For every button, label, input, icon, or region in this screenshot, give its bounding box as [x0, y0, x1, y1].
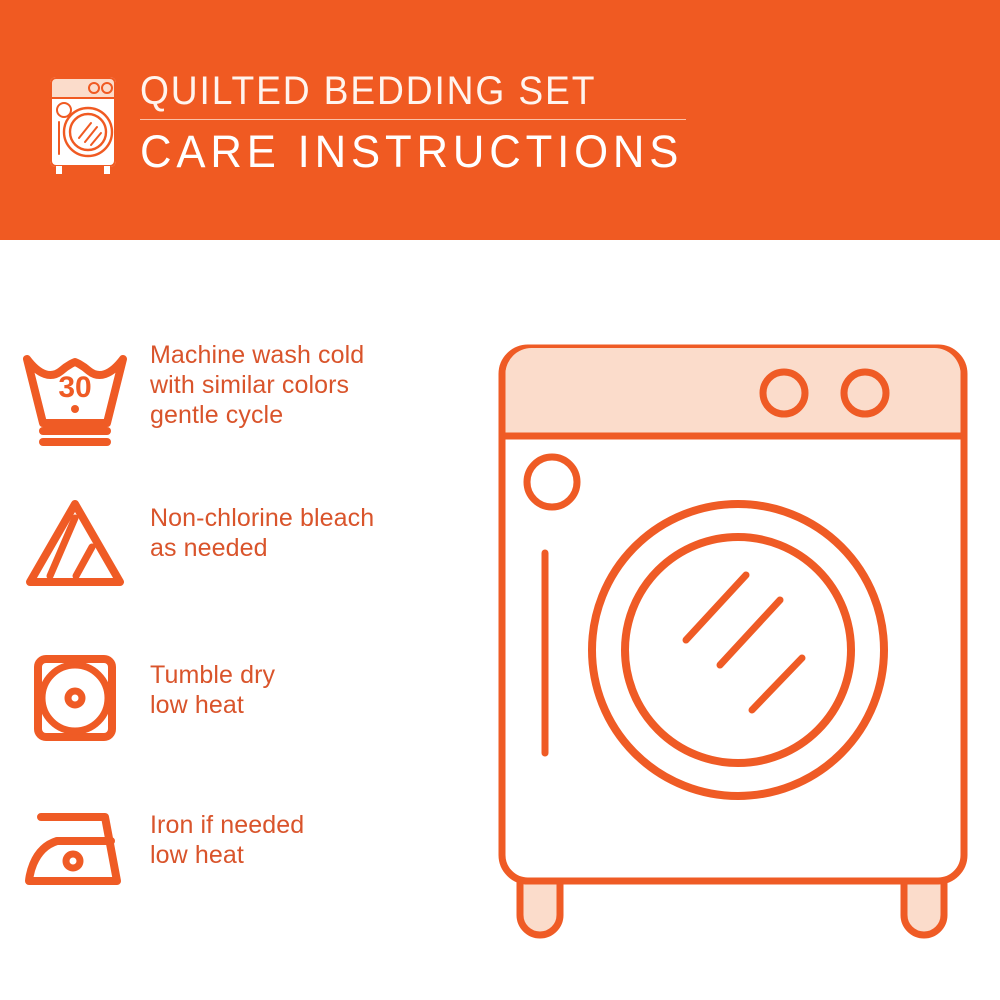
machine-wash-tub-icon: 30 [0, 338, 150, 458]
care-symbol-list: 30 Machine wash cold with similar colors… [0, 240, 470, 1000]
page-title: QUILTED BEDDING SET [140, 68, 679, 114]
care-line: Tumble dry [150, 660, 275, 690]
iron-icon [0, 792, 150, 912]
care-line: Non-chlorine bleach [150, 503, 374, 533]
care-line: as needed [150, 533, 374, 563]
care-line: low heat [150, 840, 304, 870]
care-instructions-infographic: QUILTED BEDDING SET CARE INSTRUCTIONS 30… [0, 0, 1000, 1000]
care-line: low heat [150, 690, 275, 720]
title-divider [140, 119, 686, 120]
care-label-tumble-dry: Tumble dry low heat [150, 640, 275, 720]
care-row-iron: Iron if needed low heat [0, 792, 470, 912]
control-panel [506, 348, 961, 436]
care-line: gentle cycle [150, 400, 364, 430]
care-label-iron: Iron if needed low heat [150, 792, 304, 870]
care-line: Iron if needed [150, 810, 304, 840]
page-subtitle: CARE INSTRUCTIONS [140, 126, 703, 178]
care-line: with similar colors [150, 370, 364, 400]
washing-machine-logo-icon [46, 72, 120, 176]
tumble-dry-icon [0, 640, 150, 760]
header-title-group: QUILTED BEDDING SET CARE INSTRUCTIONS [140, 68, 720, 178]
care-label-bleach: Non-chlorine bleach as needed [150, 483, 374, 563]
care-line: Machine wash cold [150, 340, 364, 370]
care-label-machine-wash: Machine wash cold with similar colors ge… [150, 338, 364, 430]
wash-temperature-label: 30 [58, 371, 91, 404]
non-chlorine-bleach-triangle-icon [0, 483, 150, 603]
care-row-tumble-dry: Tumble dry low heat [0, 640, 470, 760]
washing-machine-illustration [480, 320, 990, 940]
care-row-bleach: Non-chlorine bleach as needed [0, 483, 470, 603]
care-row-machine-wash: 30 Machine wash cold with similar colors… [0, 338, 470, 458]
header-banner: QUILTED BEDDING SET CARE INSTRUCTIONS [0, 0, 1000, 240]
